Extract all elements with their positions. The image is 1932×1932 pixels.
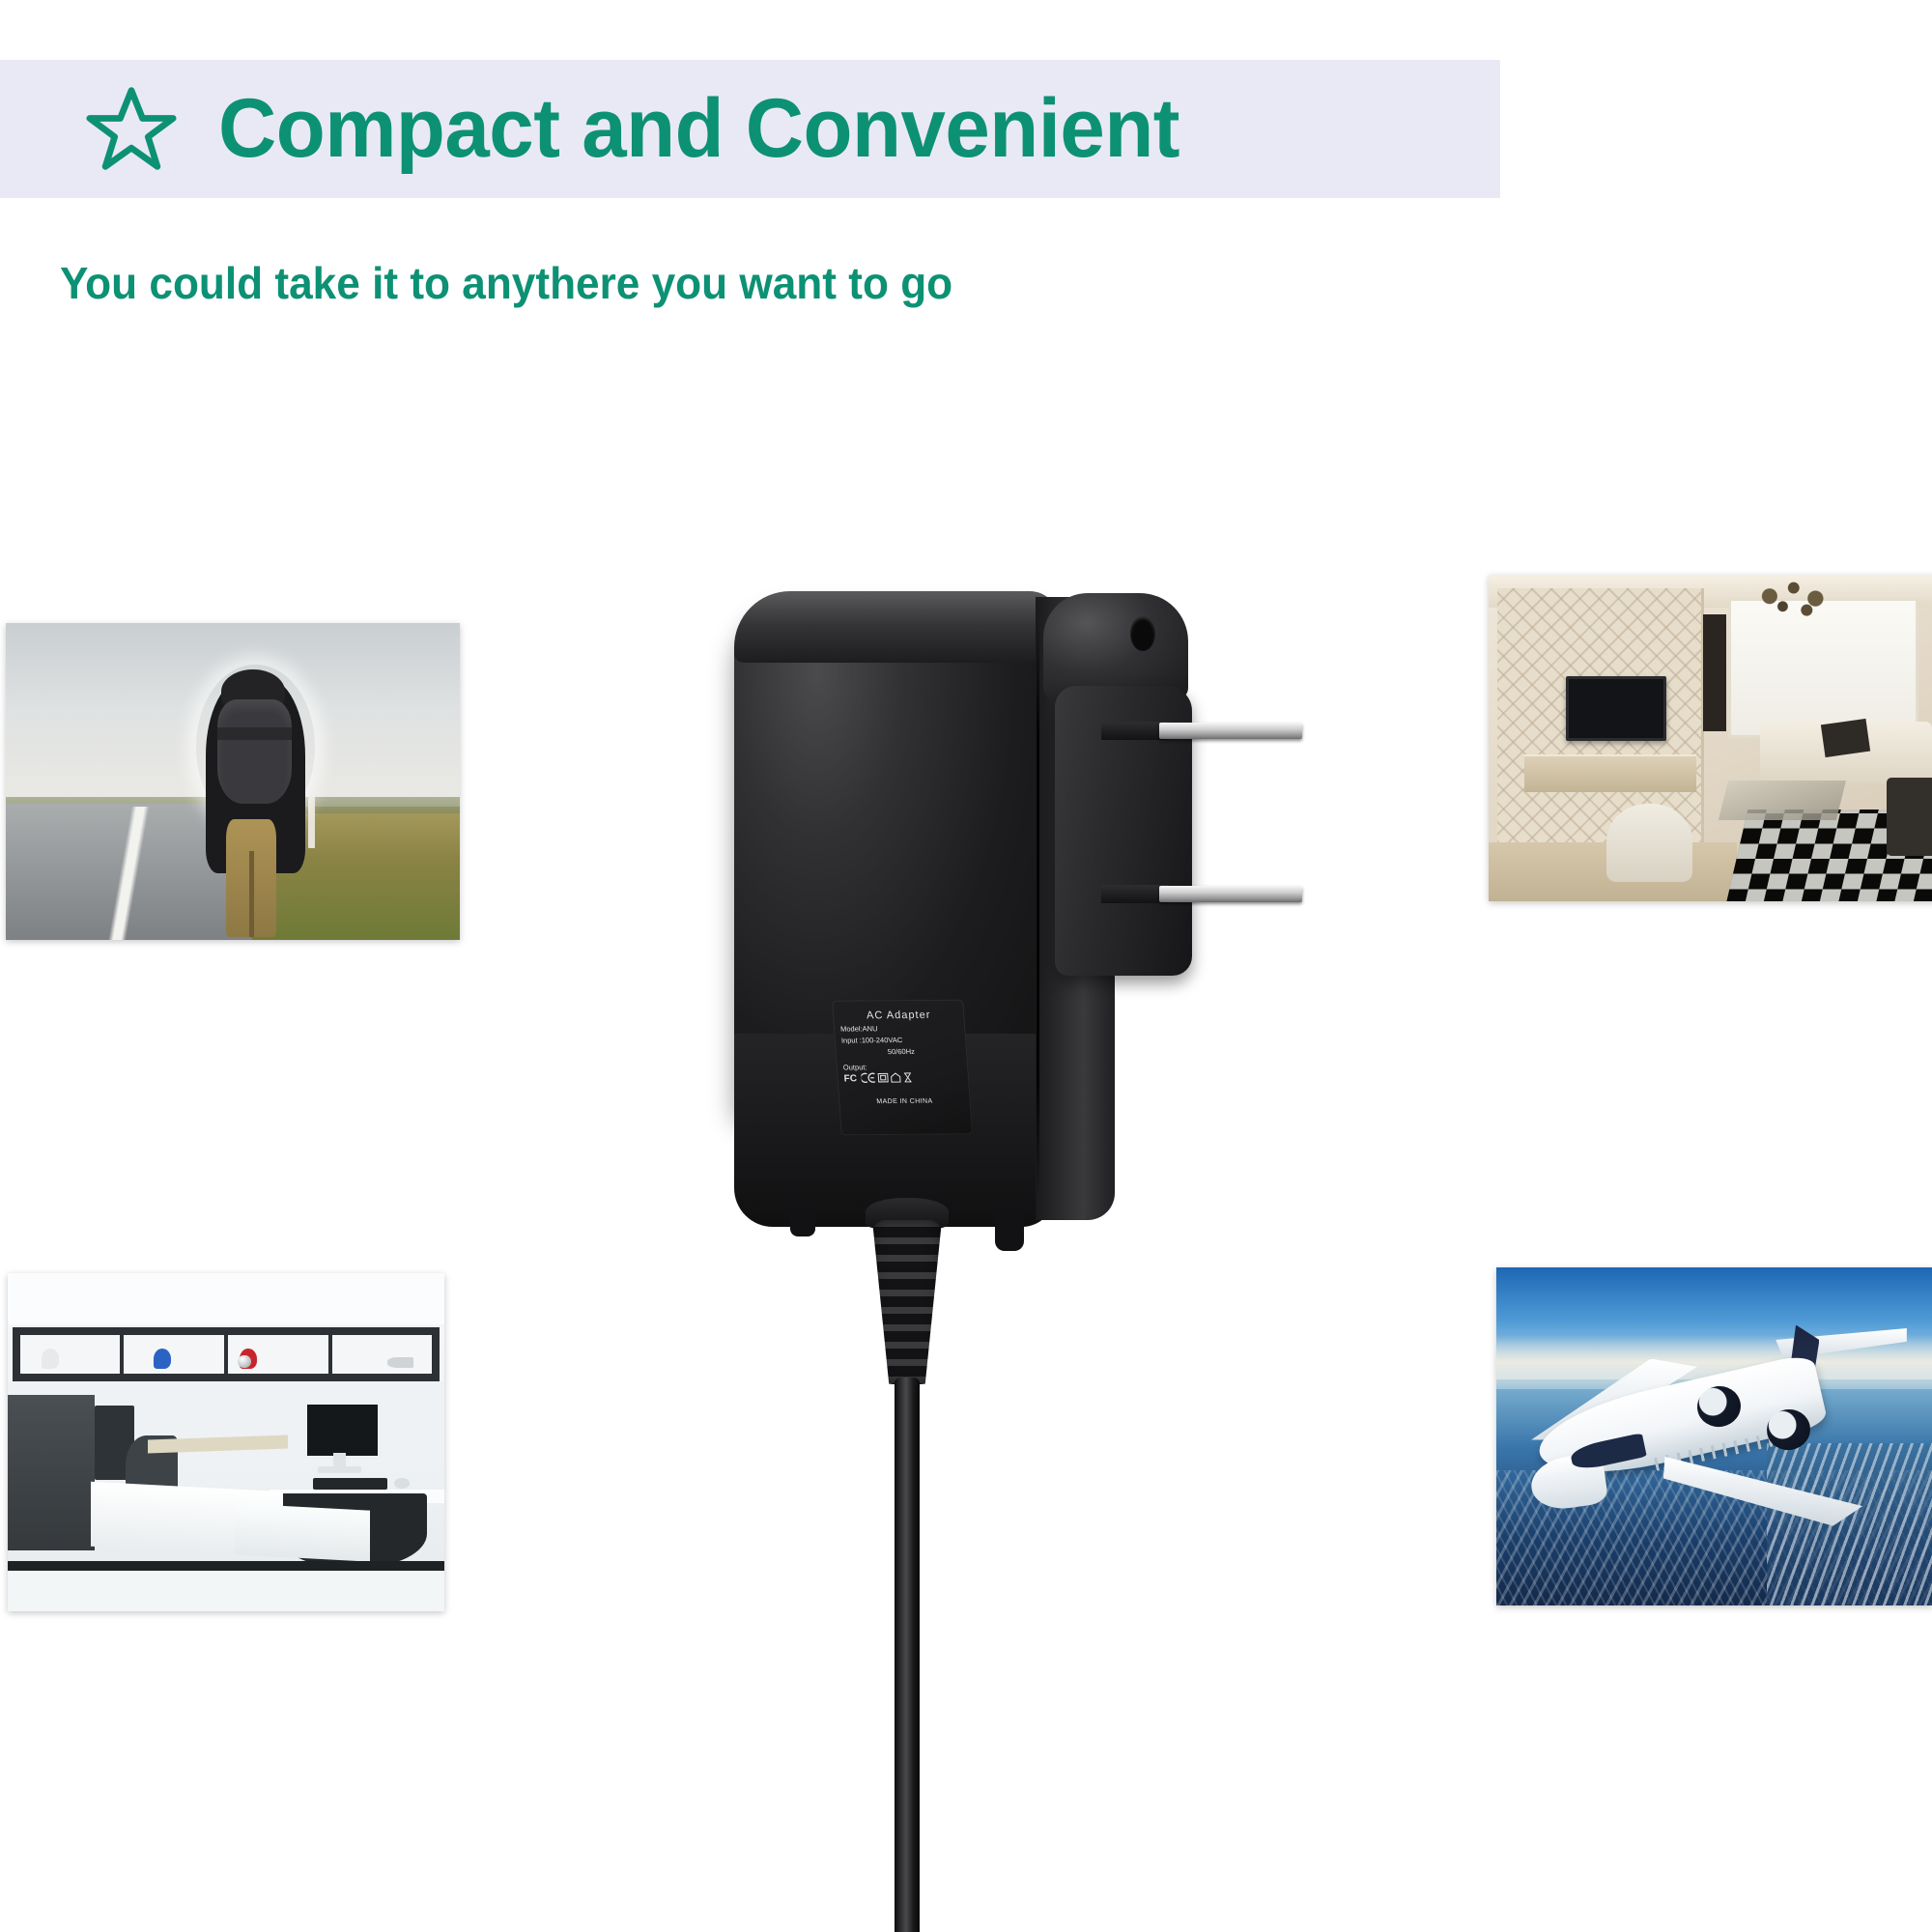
round-tub-chair bbox=[1606, 804, 1692, 882]
fcc-icon: FC bbox=[843, 1072, 860, 1083]
hiker-scene bbox=[6, 623, 460, 940]
computer-monitor bbox=[304, 1402, 380, 1459]
blue-bird-figurine bbox=[154, 1349, 171, 1369]
casing-notch-right bbox=[995, 1212, 1024, 1251]
chandelier bbox=[1737, 578, 1845, 623]
label-output: Output: bbox=[843, 1062, 962, 1071]
decor-object bbox=[387, 1357, 413, 1367]
photo-hiker bbox=[6, 623, 460, 940]
backpack-strap bbox=[217, 727, 293, 740]
photo-livingroom bbox=[1489, 575, 1932, 901]
page-title: Compact and Convenient bbox=[218, 81, 1179, 177]
certification-icon-row: FC bbox=[843, 1071, 962, 1083]
label-input: Input :100-240VAC bbox=[841, 1036, 960, 1045]
monitor-base bbox=[318, 1466, 361, 1473]
dc-output-cable bbox=[895, 1378, 920, 1932]
shelf-cell bbox=[228, 1335, 328, 1374]
keyboard bbox=[313, 1478, 387, 1490]
dark-pillow bbox=[1821, 719, 1870, 757]
airplane-scene bbox=[1496, 1267, 1932, 1605]
leg-split bbox=[249, 851, 254, 937]
power-prong-lower bbox=[1159, 886, 1302, 902]
casing-seam bbox=[1037, 618, 1039, 1198]
photo-airplane bbox=[1496, 1267, 1932, 1605]
star-outline-icon bbox=[85, 83, 178, 176]
mounting-hole bbox=[1130, 616, 1155, 651]
roadside-post bbox=[308, 797, 316, 847]
shelf-cell bbox=[20, 1335, 121, 1374]
glass-coffee-table bbox=[1719, 781, 1846, 820]
foreground-floor bbox=[8, 1571, 444, 1611]
dark-armchair bbox=[1887, 778, 1932, 856]
label-frequency: 50/60Hz bbox=[841, 1047, 960, 1057]
power-prong-upper bbox=[1159, 723, 1302, 739]
casing-notch-left bbox=[790, 1207, 815, 1236]
waste-bin-icon bbox=[902, 1072, 913, 1083]
adapter-spec-label: AC Adapter Model:ANU Input :100-240VAC 5… bbox=[832, 1000, 973, 1136]
label-title: AC Adapter bbox=[839, 1009, 958, 1022]
svg-text:FC: FC bbox=[843, 1073, 857, 1083]
shelf-cell bbox=[124, 1335, 224, 1374]
double-insulation-icon bbox=[877, 1072, 889, 1083]
upper-wall bbox=[8, 1273, 444, 1324]
road-marking bbox=[60, 807, 196, 940]
decor-sphere bbox=[238, 1355, 250, 1369]
adapter-body-top bbox=[734, 591, 1059, 663]
ce-icon bbox=[861, 1072, 876, 1083]
mouse bbox=[394, 1478, 410, 1489]
label-origin: MADE IN CHINA bbox=[845, 1097, 964, 1105]
city-land bbox=[1767, 1443, 1932, 1605]
header-banner: Compact and Convenient bbox=[0, 60, 1500, 198]
ac-wall-adapter: AC Adapter Model:ANU Input :100-240VAC 5… bbox=[676, 580, 1352, 1932]
white-bird-figurine bbox=[42, 1349, 59, 1369]
office-scene bbox=[8, 1273, 444, 1611]
strain-relief-ribs bbox=[872, 1220, 942, 1384]
media-console bbox=[1524, 754, 1696, 792]
house-indoor-use-icon bbox=[890, 1072, 901, 1083]
backpack bbox=[217, 699, 293, 804]
shelf-cell bbox=[332, 1335, 433, 1374]
floor-shadow-line bbox=[8, 1561, 444, 1572]
dark-wall-panel bbox=[1703, 614, 1725, 732]
photo-office bbox=[8, 1273, 444, 1611]
front-desk-surface-2 bbox=[235, 1503, 370, 1561]
dark-partition bbox=[8, 1395, 95, 1550]
wall-mounted-tv bbox=[1566, 676, 1666, 741]
label-model: Model:ANU bbox=[840, 1024, 959, 1034]
adapter-shoulder bbox=[1043, 593, 1188, 699]
subtitle-text: You could take it to anythere you want t… bbox=[60, 257, 952, 309]
livingroom-scene bbox=[1489, 575, 1932, 901]
wall-shelf bbox=[13, 1327, 440, 1381]
